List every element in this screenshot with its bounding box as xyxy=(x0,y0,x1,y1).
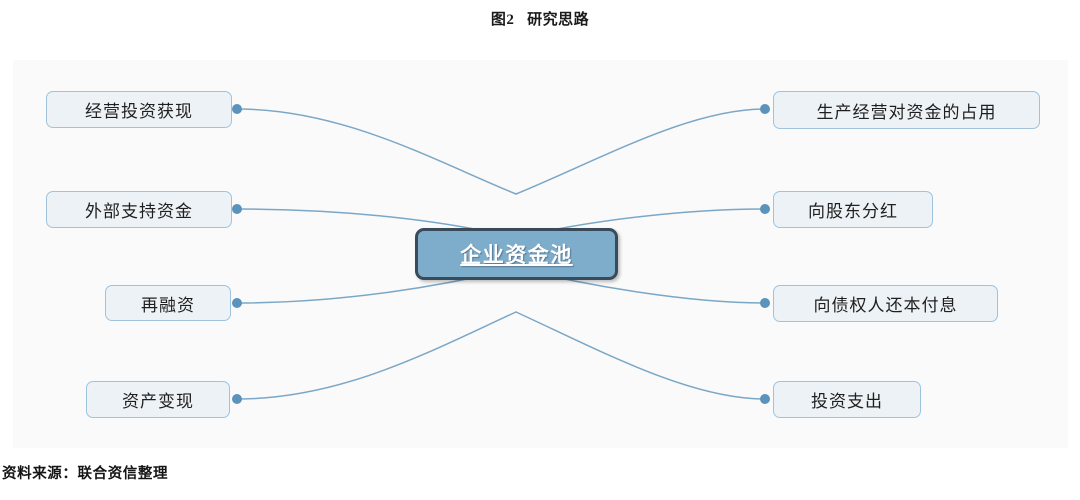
connector-left-1 xyxy=(237,109,516,194)
connector-dot-left-3 xyxy=(232,298,242,308)
node-outflow-2[interactable]: 向股东分红 xyxy=(773,191,933,228)
node-inflow-3[interactable]: 再融资 xyxy=(105,285,231,321)
connector-dot-right-1 xyxy=(760,104,770,114)
node-outflow-4-label: 投资支出 xyxy=(811,387,883,412)
node-outflow-3[interactable]: 向债权人还本付息 xyxy=(773,285,998,322)
node-inflow-1[interactable]: 经营投资获现 xyxy=(46,91,232,128)
node-inflow-1-label: 经营投资获现 xyxy=(85,97,193,122)
source-note: 资料来源：联合资信整理 xyxy=(2,462,168,483)
diagram-canvas: 经营投资获现 外部支持资金 再融资 资产变现 生产经营对资金的占用 向股东分红 … xyxy=(13,60,1068,448)
connector-dot-left-1 xyxy=(232,104,242,114)
node-center-label: 企业资金池 xyxy=(460,239,573,269)
figure-caption: 图2 研究思路 xyxy=(0,8,1080,29)
connector-right-1 xyxy=(516,109,765,194)
connector-dot-right-3 xyxy=(760,298,770,308)
node-outflow-3-label: 向债权人还本付息 xyxy=(814,291,958,316)
node-outflow-1[interactable]: 生产经营对资金的占用 xyxy=(773,91,1040,129)
connector-dot-right-4 xyxy=(760,394,770,404)
connector-left-4 xyxy=(237,312,516,399)
node-inflow-3-label: 再融资 xyxy=(141,291,195,316)
node-outflow-4[interactable]: 投资支出 xyxy=(773,381,921,418)
node-inflow-4[interactable]: 资产变现 xyxy=(86,381,230,418)
node-inflow-4-label: 资产变现 xyxy=(122,387,194,412)
node-inflow-2-label: 外部支持资金 xyxy=(85,197,193,222)
connector-dot-left-4 xyxy=(232,394,242,404)
node-inflow-2[interactable]: 外部支持资金 xyxy=(46,191,232,228)
node-outflow-1-label: 生产经营对资金的占用 xyxy=(817,98,997,123)
node-center[interactable]: 企业资金池 xyxy=(415,228,618,280)
connector-dot-right-2 xyxy=(760,204,770,214)
node-outflow-2-label: 向股东分红 xyxy=(808,197,898,222)
connector-dot-left-2 xyxy=(232,204,242,214)
connector-right-4 xyxy=(516,312,765,399)
